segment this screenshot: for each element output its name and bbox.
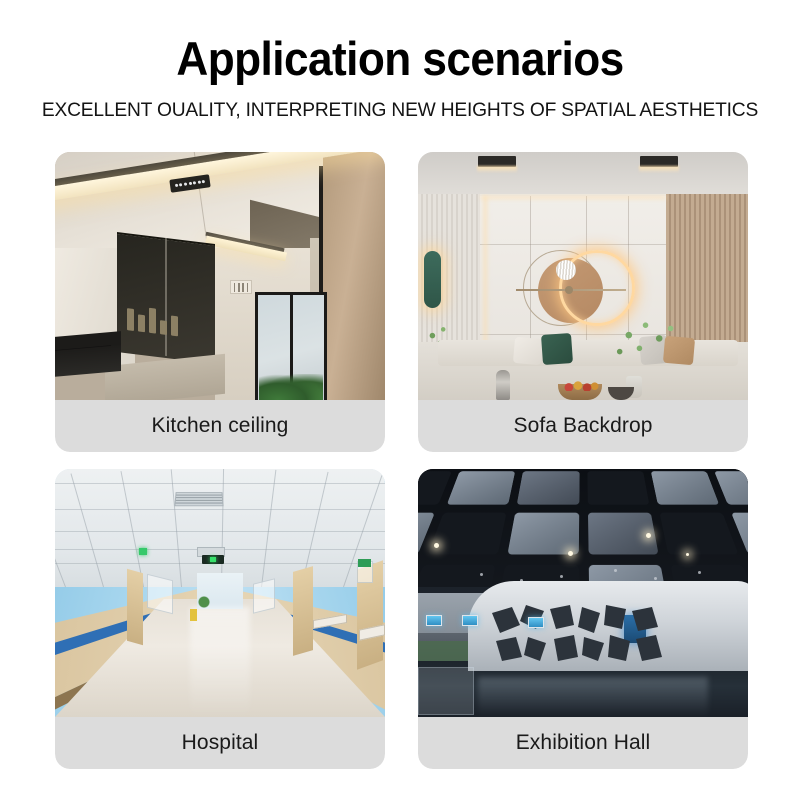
scenario-card-hospital[interactable]: Hospital [55,469,385,769]
display-screen-icon [426,615,442,626]
exit-sign-icon [358,559,371,567]
scenario-label-text: Exhibition Hall [516,731,651,755]
scenario-photo-hospital [55,469,385,717]
scenario-label-hospital: Hospital [55,717,385,769]
scenario-card-exhibition-hall[interactable]: Exhibition Hall [418,469,748,769]
air-vent-icon [230,280,252,294]
scenario-label-kitchen-ceiling: Kitchen ceiling [55,400,385,452]
scenario-label-text: Kitchen ceiling [152,414,289,438]
pill-wall-sconce-icon [424,251,441,308]
page-header: Application scenarios EXCELLENT OUALITY,… [0,0,800,122]
caution-sign-icon [190,609,197,621]
page-title: Application scenarios [24,34,776,83]
scenario-photo-kitchen-ceiling [55,152,385,400]
application-scenarios-page: Application scenarios EXCELLENT OUALITY,… [0,0,800,800]
ceiling-air-vent-icon [174,492,223,506]
ceiling-spotlight-icon [646,533,651,538]
page-subtitle: EXCELLENT OUALITY, INTERPRETING NEW HEIG… [6,99,794,122]
scenario-label-sofa-backdrop: Sofa Backdrop [418,400,748,452]
ceiling-spotlight-icon [434,543,439,548]
scenario-label-text: Hospital [182,731,259,755]
scenario-card-grid: Kitchen ceiling [55,152,748,769]
scenario-label-exhibition-hall: Exhibition Hall [418,717,748,769]
display-screen-icon [528,617,544,628]
organic-lattice-facade [486,599,666,665]
lattice-pattern-icon [486,599,666,665]
emergency-exit-sign-icon [202,555,224,564]
scenario-photo-sofa-backdrop [418,152,748,400]
scenario-label-text: Sofa Backdrop [513,414,652,438]
scenario-card-sofa-backdrop[interactable]: Sofa Backdrop [418,152,748,452]
ceiling-spotlight-icon [686,553,689,556]
scenario-card-kitchen-ceiling[interactable]: Kitchen ceiling [55,152,385,452]
ceiling-spotlight-icon [568,551,573,556]
display-screen-icon [462,615,478,626]
scenario-photo-exhibition-hall [418,469,748,717]
